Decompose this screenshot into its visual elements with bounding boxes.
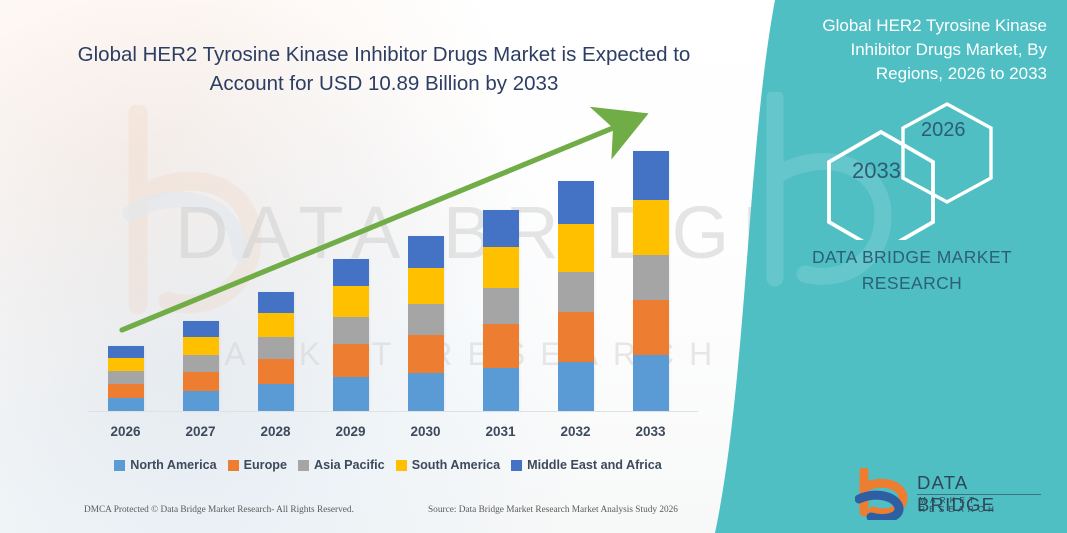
legend-item-middle-east-and-africa[interactable]: Middle East and Africa <box>511 458 662 472</box>
bar-segment-south-america <box>258 313 294 337</box>
legend-item-north-america[interactable]: North America <box>114 458 216 472</box>
x-axis-label-2026: 2026 <box>96 424 156 439</box>
legend-item-europe[interactable]: Europe <box>228 458 287 472</box>
x-axis-label-2033: 2033 <box>621 424 681 439</box>
bar-chart-plot <box>88 110 688 411</box>
bar-segment-north-america <box>408 373 444 411</box>
bar-segment-asia-pacific <box>258 337 294 359</box>
bar-segment-middle-east-and-africa <box>333 259 369 286</box>
x-axis-label-2028: 2028 <box>246 424 306 439</box>
bar-segment-south-america <box>483 247 519 288</box>
bar-2031 <box>483 210 519 411</box>
bar-segment-middle-east-and-africa <box>108 346 144 358</box>
x-axis-line <box>88 411 698 412</box>
bar-segment-middle-east-and-africa <box>408 236 444 268</box>
legend-swatch-icon <box>511 460 522 471</box>
panel-title: Global HER2 Tyrosine Kinase Inhibitor Dr… <box>785 14 1047 86</box>
panel-brand-line1: DATA BRIDGE MARKET <box>777 244 1047 270</box>
dbmr-logo-tagline: MARKET RESEARCH <box>919 496 1045 514</box>
bar-segment-europe <box>183 372 219 391</box>
bar-segment-europe <box>333 344 369 377</box>
bar-segment-asia-pacific <box>183 355 219 372</box>
x-axis-label-2029: 2029 <box>321 424 381 439</box>
bar-segment-europe <box>483 324 519 368</box>
bar-segment-south-america <box>408 268 444 304</box>
x-axis-label-2031: 2031 <box>471 424 531 439</box>
right-panel: Global HER2 Tyrosine Kinase Inhibitor Dr… <box>707 0 1067 533</box>
bar-segment-europe <box>108 384 144 398</box>
x-axis-label-2032: 2032 <box>546 424 606 439</box>
hexagon-group: 2026 2033 <box>799 100 1049 240</box>
bar-segment-asia-pacific <box>558 272 594 312</box>
legend-item-asia-pacific[interactable]: Asia Pacific <box>298 458 385 472</box>
footer: DMCA Protected © Data Bridge Market Rese… <box>0 505 720 527</box>
bar-segment-europe <box>558 312 594 362</box>
legend-label: Middle East and Africa <box>527 458 662 472</box>
bar-2027 <box>183 321 219 411</box>
infographic-canvas: DATA BRIDGE MARKET RESEARCH Global HER2 … <box>0 0 1067 533</box>
legend-label: Asia Pacific <box>314 458 385 472</box>
bar-segment-north-america <box>108 398 144 411</box>
bar-2033 <box>633 151 669 411</box>
bar-segment-asia-pacific <box>483 288 519 324</box>
page-title: Global HER2 Tyrosine Kinase Inhibitor Dr… <box>74 40 694 98</box>
x-axis-label-2030: 2030 <box>396 424 456 439</box>
bar-segment-middle-east-and-africa <box>633 151 669 200</box>
footer-source: Source: Data Bridge Market Research Mark… <box>428 505 678 515</box>
bar-segment-asia-pacific <box>333 317 369 344</box>
dbmr-logo-mark-icon <box>855 468 913 520</box>
bar-segment-middle-east-and-africa <box>483 210 519 247</box>
bar-2032 <box>558 181 594 411</box>
legend-label: North America <box>130 458 216 472</box>
legend-label: South America <box>412 458 500 472</box>
bar-2026 <box>108 346 144 411</box>
bar-segment-middle-east-and-africa <box>258 292 294 313</box>
bar-segment-asia-pacific <box>633 255 669 300</box>
legend-swatch-icon <box>396 460 407 471</box>
dbmr-logo: DATA BRIDGE MARKET RESEARCH <box>855 466 1045 520</box>
bar-segment-asia-pacific <box>408 304 444 335</box>
legend-item-south-america[interactable]: South America <box>396 458 500 472</box>
legend-swatch-icon <box>298 460 309 471</box>
hexagon-label-2026: 2026 <box>921 119 966 142</box>
legend-swatch-icon <box>114 460 125 471</box>
bar-segment-south-america <box>108 358 144 371</box>
bar-segment-asia-pacific <box>108 371 144 384</box>
legend-label: Europe <box>244 458 287 472</box>
chart-legend: North AmericaEuropeAsia PacificSouth Ame… <box>88 455 688 475</box>
bar-segment-south-america <box>183 337 219 355</box>
legend-swatch-icon <box>228 460 239 471</box>
bar-segment-north-america <box>333 377 369 411</box>
bar-segment-north-america <box>183 391 219 411</box>
bar-segment-europe <box>408 335 444 373</box>
panel-brand-line2: RESEARCH <box>777 270 1047 296</box>
x-axis-label-2027: 2027 <box>171 424 231 439</box>
x-axis-labels: 20262027202820292030203120322033 <box>88 424 688 444</box>
bar-segment-north-america <box>558 362 594 411</box>
bar-segment-middle-east-and-africa <box>183 321 219 337</box>
hexagon-label-2033: 2033 <box>852 158 901 184</box>
bar-2029 <box>333 259 369 411</box>
dbmr-logo-rule <box>917 494 1041 495</box>
bar-segment-middle-east-and-africa <box>558 181 594 224</box>
bar-segment-south-america <box>333 286 369 317</box>
bar-segment-north-america <box>633 355 669 411</box>
bar-2030 <box>408 236 444 411</box>
bar-segment-europe <box>258 359 294 384</box>
bar-segment-north-america <box>258 384 294 411</box>
bar-segment-europe <box>633 300 669 355</box>
bar-segment-south-america <box>558 224 594 272</box>
panel-brand: DATA BRIDGE MARKET RESEARCH <box>777 244 1047 297</box>
bar-segment-south-america <box>633 200 669 255</box>
bar-segment-north-america <box>483 368 519 411</box>
bar-2028 <box>258 292 294 411</box>
footer-copyright: DMCA Protected © Data Bridge Market Rese… <box>84 505 354 515</box>
